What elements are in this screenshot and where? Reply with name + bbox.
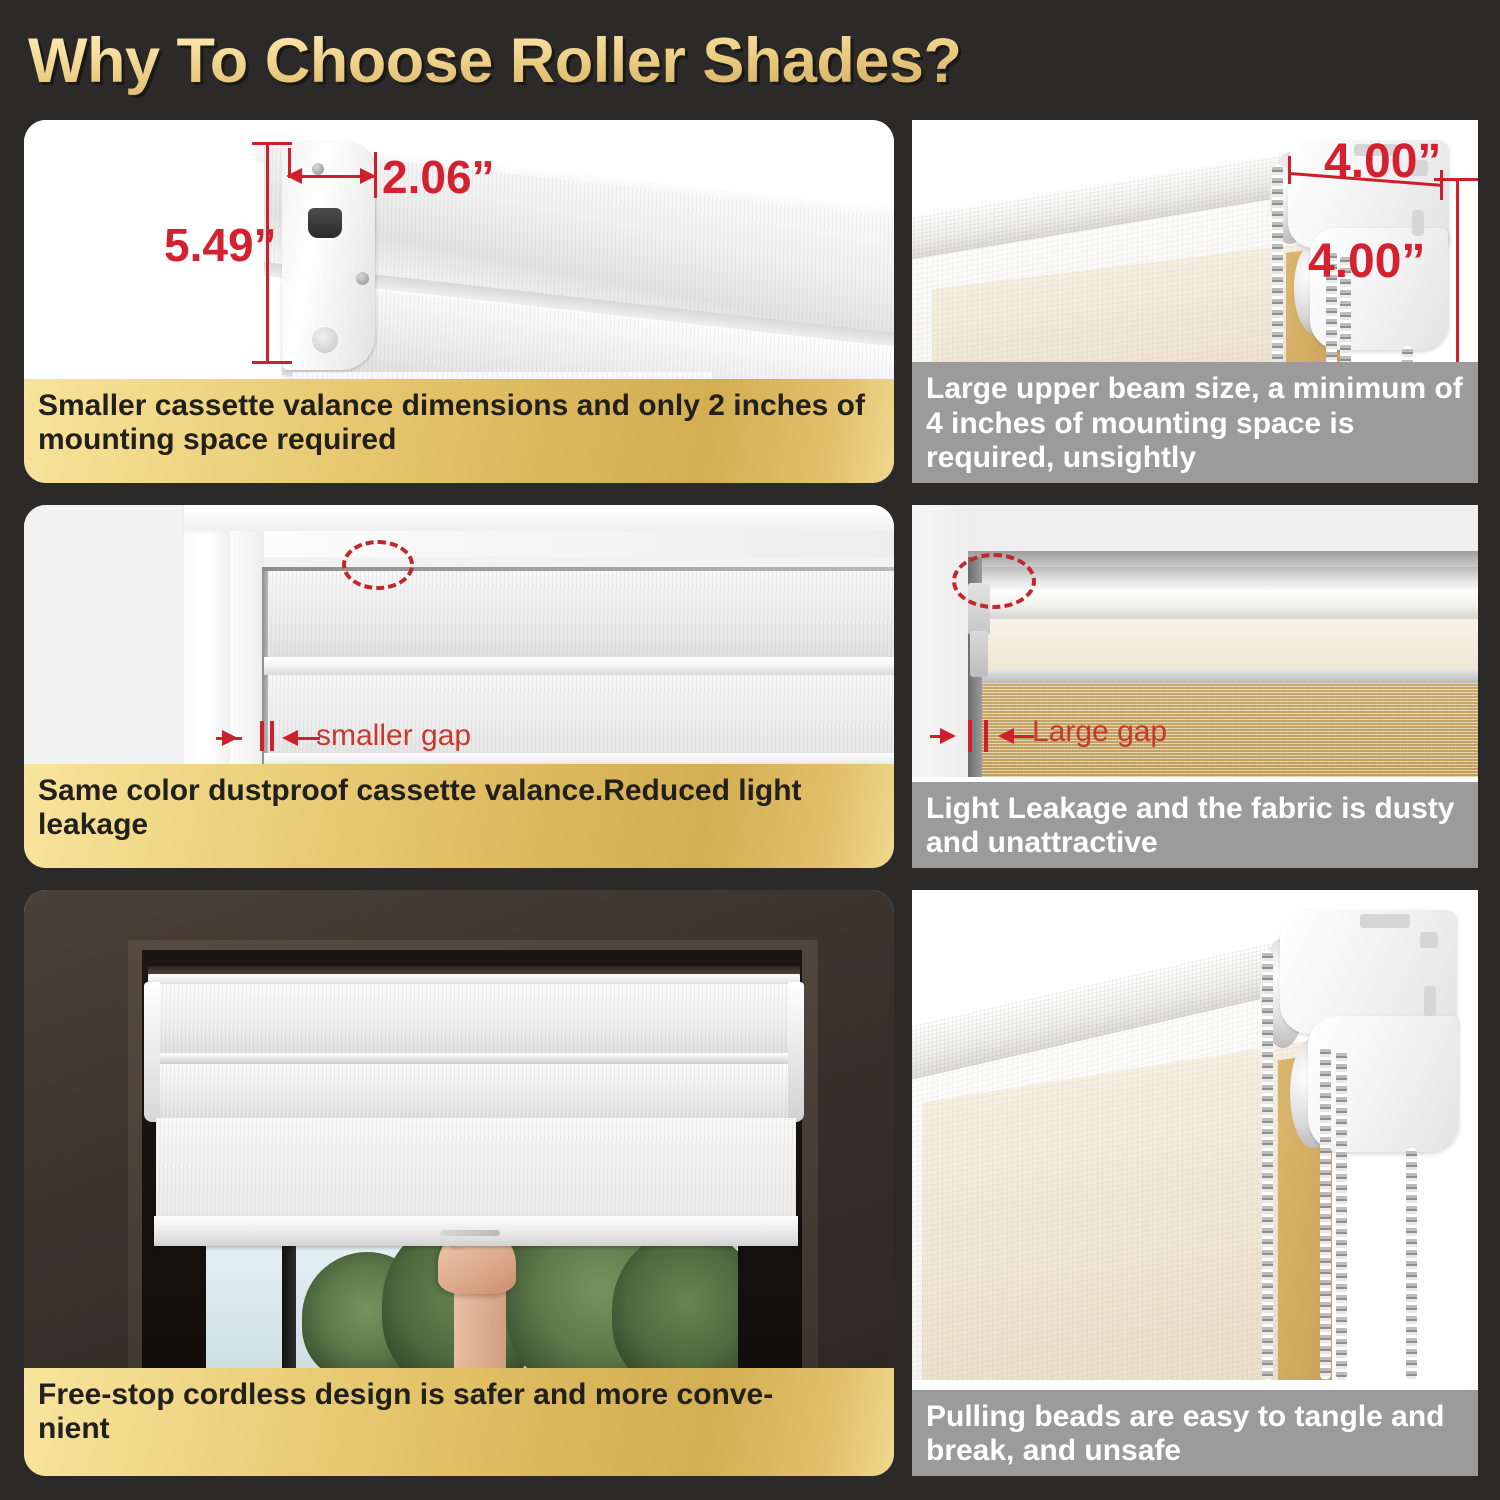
- dimension-beam-height-label: 4.00”: [1308, 234, 1425, 289]
- caption-con-beam-size: Large upper beam size, a minimum of 4 in…: [912, 362, 1478, 483]
- page-title: Why To Choose Roller Shades?: [28, 22, 1078, 100]
- bead-chain: [1262, 950, 1273, 1380]
- infographic-root: Why To Choose Roller Shades? Why To Choo…: [0, 0, 1500, 1500]
- panel-pro-cordless-design: Free-stop cordless design is safer and m…: [24, 890, 894, 1476]
- caption-con-light-leakage: Light Leakage and the fabric is dusty an…: [912, 782, 1478, 868]
- panel-4-image: Large gap: [912, 505, 1478, 777]
- panel-con-beam-size: 4.00” 4.00” Large upper beam size, a min…: [912, 120, 1478, 483]
- dimension-width-label: 2.06”: [382, 150, 495, 204]
- panel-1-image: 2.06” 5.49”: [24, 120, 894, 395]
- panel-con-pulling-beads: Pulling beads are easy to tangle and bre…: [912, 890, 1478, 1476]
- highlight-circle: [342, 540, 414, 590]
- panel-pro-dustproof-valance: smaller gap Same color dustproof cassett…: [24, 505, 894, 868]
- panel-pro-cassette-size: 2.06” 5.49” Smaller cassette valance dim…: [24, 120, 894, 483]
- dimension-height-label: 5.49”: [164, 218, 277, 272]
- caption-line-1: Free-stop cordless design is safer and m…: [38, 1378, 880, 1412]
- gap-label-smaller: smaller gap: [316, 719, 471, 753]
- panel-6-image: [912, 890, 1478, 1380]
- bead-chain: [1336, 1050, 1347, 1380]
- caption-pro-dustproof-valance: Same color dustproof cassette valance.Re…: [24, 764, 894, 868]
- panel-2-image: 4.00” 4.00”: [912, 120, 1478, 392]
- panel-con-light-leakage: Large gap Light Leakage and the fabric i…: [912, 505, 1478, 868]
- caption-pro-cordless-design: Free-stop cordless design is safer and m…: [24, 1368, 894, 1476]
- panel-3-image: smaller gap: [24, 505, 894, 777]
- caption-line-2: nient: [38, 1412, 880, 1446]
- bead-chain: [1406, 1148, 1417, 1380]
- dimension-beam-width-label: 4.00”: [1324, 134, 1441, 189]
- bead-chain: [1320, 1046, 1331, 1380]
- gap-label-large: Large gap: [1032, 715, 1167, 749]
- caption-con-pulling-beads: Pulling beads are easy to tangle and bre…: [912, 1390, 1478, 1476]
- highlight-circle: [952, 553, 1036, 609]
- caption-pro-cassette-size: Smaller cassette valance dimensions and …: [24, 379, 894, 483]
- panel-5-image: [24, 890, 894, 1368]
